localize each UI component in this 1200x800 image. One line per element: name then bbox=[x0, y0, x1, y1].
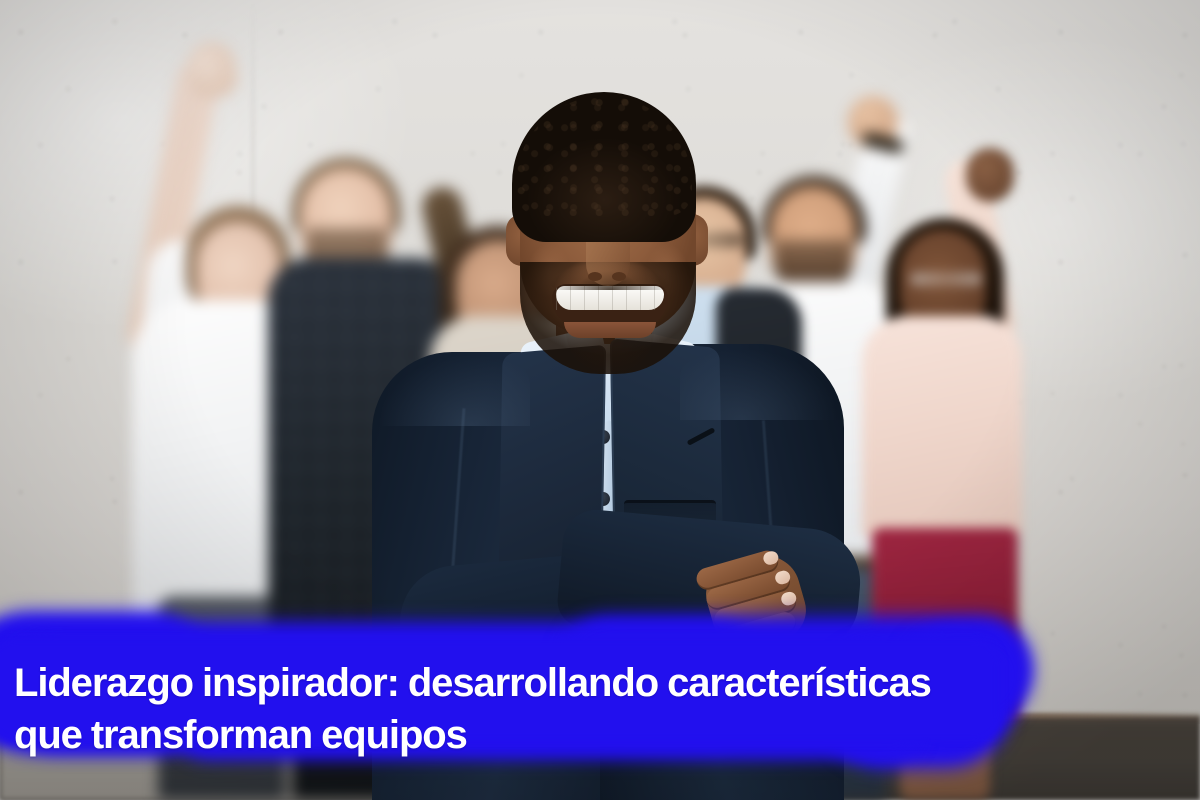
subject-shoulder-left bbox=[380, 356, 530, 426]
page-title: Liderazgo inspirador: desarrollando cara… bbox=[14, 657, 974, 762]
subject-nostril-right bbox=[612, 272, 626, 281]
subject-shoulder-right bbox=[680, 350, 836, 420]
hero-image: Liderazgo inspirador: desarrollando cara… bbox=[0, 0, 1200, 800]
subject-nostril-left bbox=[588, 272, 602, 281]
subject-lower-lip bbox=[564, 322, 656, 338]
